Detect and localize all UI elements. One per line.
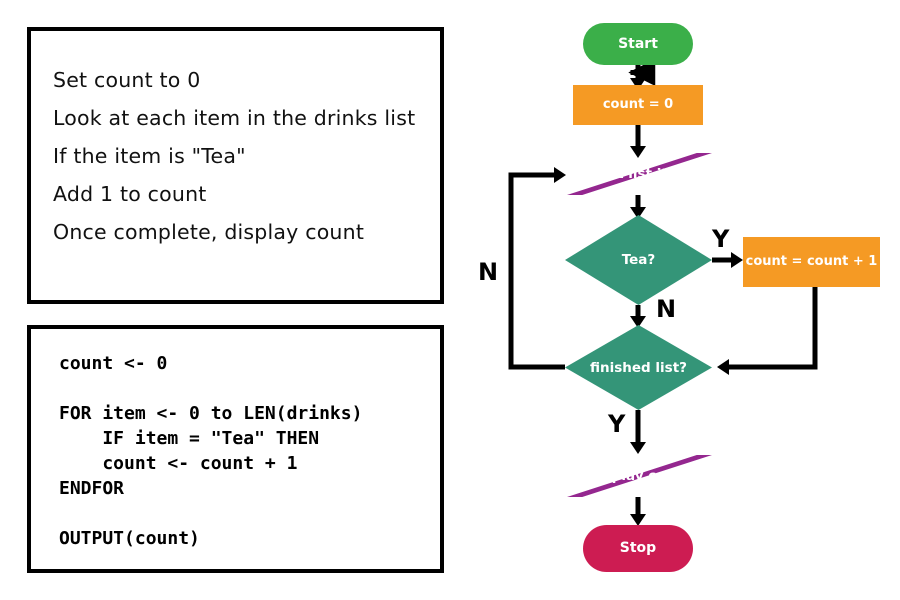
code-line: IF item = "Tea" THEN xyxy=(59,426,432,451)
flow-node-finished-decision-label: finished list? xyxy=(565,325,712,410)
flow-node-stop[interactable]: Stop xyxy=(583,525,693,572)
edge-label-finished-yes: Y xyxy=(608,412,625,436)
code-line xyxy=(59,501,432,526)
pseudocode-line: Once complete, display count xyxy=(53,213,428,251)
pseudocode-panel: Set count to 0 Look at each item in the … xyxy=(27,27,444,304)
code-line: ENDFOR xyxy=(59,476,432,501)
code-panel: count <- 0 FOR item <- 0 to LEN(drinks) … xyxy=(27,325,444,573)
flow-node-increment[interactable]: count = count + 1 xyxy=(743,237,880,287)
code-line: count <- 0 xyxy=(59,351,432,376)
flow-node-next-list-item[interactable]: Next list item xyxy=(567,153,712,195)
code-line: FOR item <- 0 to LEN(drinks) xyxy=(59,401,432,426)
flow-node-stop-label: Stop xyxy=(620,541,656,556)
flow-node-finished-decision[interactable]: finished list? xyxy=(565,325,712,410)
edge-label-tea-yes: Y xyxy=(712,227,729,251)
flow-node-increment-label: count = count + 1 xyxy=(746,255,878,269)
pseudocode-line: Look at each item in the drinks list xyxy=(53,99,428,137)
flow-node-display-count[interactable]: Display count xyxy=(567,455,712,497)
flow-node-start-label: Start xyxy=(618,37,658,52)
code-line: count <- count + 1 xyxy=(59,451,432,476)
flow-node-init-count-label: count = 0 xyxy=(603,98,673,112)
flow-node-next-list-item-label: Next list item xyxy=(588,167,691,181)
flow-node-tea-decision-label: Tea? xyxy=(565,215,712,305)
flowchart-infographic: Set count to 0 Look at each item in the … xyxy=(0,0,900,600)
flow-node-tea-decision[interactable]: Tea? xyxy=(565,215,712,305)
flow-node-display-count-label: Display count xyxy=(588,469,691,483)
flow-node-init-count[interactable]: count = 0 xyxy=(573,85,703,125)
code-listing: count <- 0 FOR item <- 0 to LEN(drinks) … xyxy=(59,351,432,551)
flow-node-start[interactable]: Start xyxy=(583,23,693,65)
flowchart: Start count = 0 Next list item Tea? coun… xyxy=(460,0,900,600)
pseudocode-line: Add 1 to count xyxy=(53,175,428,213)
pseudocode-list: Set count to 0 Look at each item in the … xyxy=(53,61,428,251)
edge-label-finished-no: N xyxy=(478,260,498,284)
code-line: OUTPUT(count) xyxy=(59,526,432,551)
pseudocode-line: Set count to 0 xyxy=(53,61,428,99)
pseudocode-line: If the item is "Tea" xyxy=(53,137,428,175)
code-line xyxy=(59,376,432,401)
